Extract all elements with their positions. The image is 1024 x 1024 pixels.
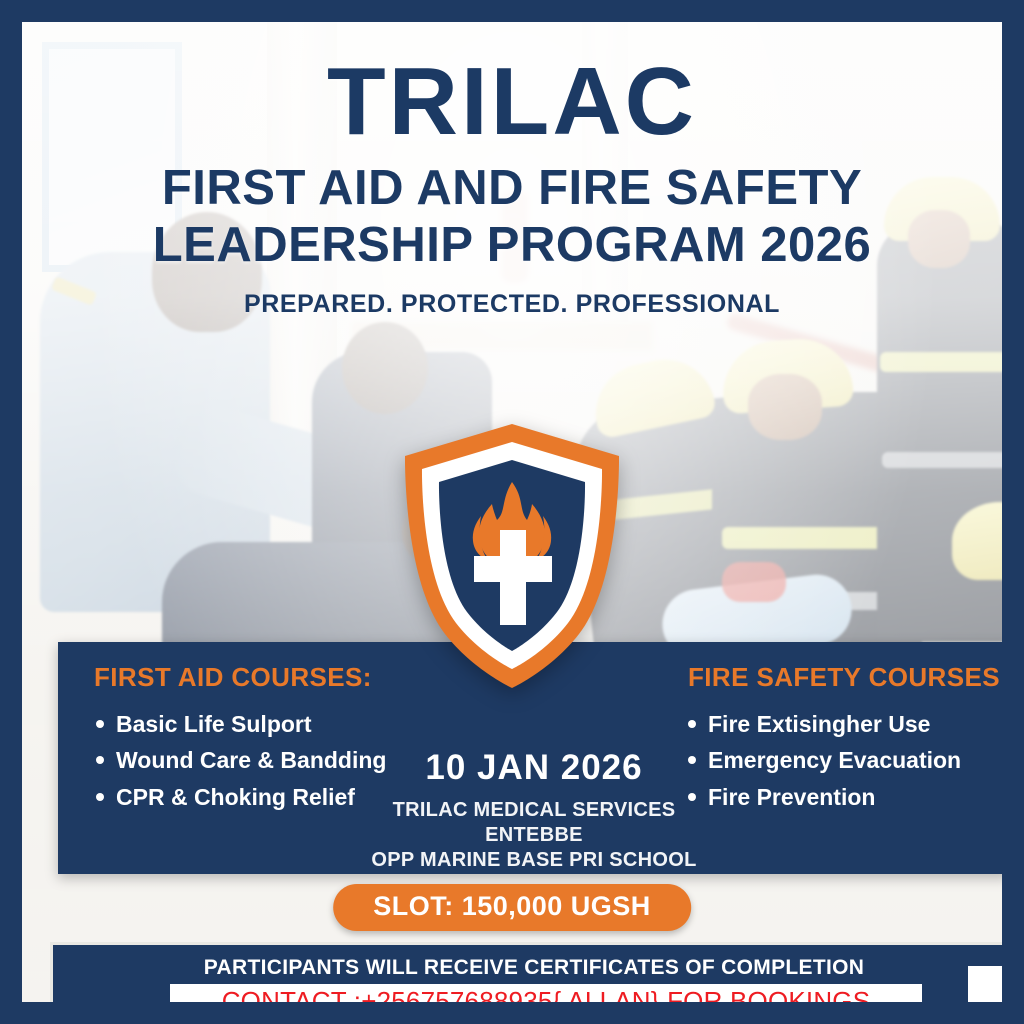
- brand-title: TRILAC: [22, 56, 1002, 148]
- list-item: Basic Life Sulport: [116, 709, 412, 740]
- poster-flyer: TRILAC FIRST AID AND FIRE SAFETY LEADERS…: [0, 0, 1024, 1024]
- poster-canvas: TRILAC FIRST AID AND FIRE SAFETY LEADERS…: [22, 22, 1002, 1002]
- tagline: PREPARED. PROTECTED. PROFESSIONAL: [22, 290, 1002, 319]
- fire-safety-courses-title: FIRE SAFETY COURSES: [674, 662, 1002, 693]
- contact-strip: CONTACT :+256757688935{ ALLAN} FOR BOOKI…: [170, 984, 922, 1002]
- first-aid-courses-title: FIRST AID COURSES:: [82, 662, 412, 693]
- slot-price-badge: SLOT: 150,000 UGSH: [333, 884, 691, 931]
- list-item: Fire Extisingher Use: [708, 709, 1002, 740]
- shield-flame-cross-icon: [397, 420, 627, 692]
- event-details: 10 JAN 2026 TRILAC MEDICAL SERVICES ENTE…: [344, 748, 724, 872]
- event-venue-line-2: OPP MARINE BASE PRI SCHOOL: [344, 848, 724, 873]
- certificate-note: PARTICIPANTS WILL RECEIVE CERTIFICATES O…: [53, 956, 1002, 980]
- list-item: Emergency Evacuation: [708, 745, 1002, 776]
- event-date: 10 JAN 2026: [344, 748, 724, 788]
- poster-headings: TRILAC FIRST AID AND FIRE SAFETY LEADERS…: [22, 56, 1002, 319]
- contact-text: CONTACT :+256757688935{ ALLAN} FOR BOOKI…: [222, 986, 871, 1002]
- white-corner-artifact: [968, 966, 1002, 1002]
- program-title-line-1: FIRST AID AND FIRE SAFETY: [22, 160, 1002, 217]
- program-title-line-2: LEADERSHIP PROGRAM 2026: [22, 217, 1002, 274]
- event-venue-line-1: TRILAC MEDICAL SERVICES ENTEBBE: [344, 798, 724, 848]
- list-item: Fire Prevention: [708, 782, 1002, 813]
